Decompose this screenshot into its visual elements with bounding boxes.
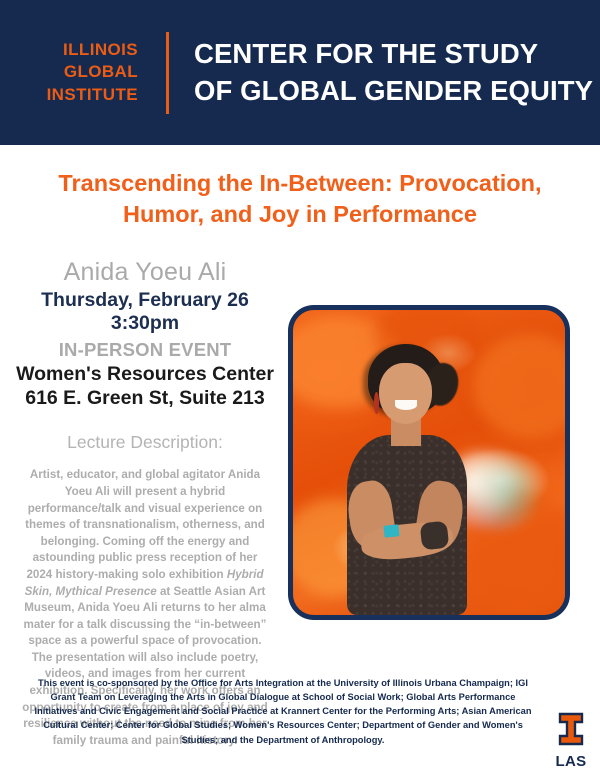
- subject-wrist-cuff: [419, 521, 449, 551]
- header-divider-rule: [166, 32, 169, 114]
- subject-smile: [395, 400, 417, 410]
- talk-title-line-2: Humor, and Joy in Performance: [18, 199, 582, 230]
- las-wordmark: LAS: [551, 754, 591, 769]
- subject-face: [379, 363, 432, 424]
- las-logo: LAS: [551, 712, 591, 769]
- speaker-portrait: [288, 305, 570, 620]
- page-title: Transcending the In-Between: Provocation…: [0, 168, 600, 231]
- venue-name: Women's Resources Center: [0, 363, 290, 387]
- speaker-name: Anida Yoeu Ali: [0, 258, 290, 286]
- igi-line-1: ILLINOIS: [28, 39, 138, 61]
- illinois-block-i-icon: [557, 712, 585, 746]
- center-name-line-2: OF GLOBAL GENDER EQUITY: [194, 73, 593, 109]
- subject-turquoise-ring: [384, 524, 400, 538]
- lecture-body-part-1: Artist, educator, and global agitator An…: [25, 468, 265, 580]
- event-date: Thursday, February 26: [0, 289, 290, 312]
- center-name: CENTER FOR THE STUDY OF GLOBAL GENDER EQ…: [194, 36, 593, 109]
- sponsor-credit: This event is co-sponsored by the Office…: [34, 676, 532, 747]
- venue-address: 616 E. Green St, Suite 213: [0, 387, 290, 411]
- portrait-subject: [293, 310, 565, 615]
- lecture-description-heading: Lecture Description:: [0, 432, 290, 453]
- center-name-line-1: CENTER FOR THE STUDY: [194, 36, 593, 72]
- illinois-global-institute-lockup: ILLINOIS GLOBAL INSTITUTE: [28, 39, 138, 106]
- igi-line-3: INSTITUTE: [28, 84, 138, 106]
- event-time: 3:30pm: [0, 312, 290, 335]
- event-mode-badge: IN-PERSON EVENT: [0, 338, 290, 361]
- poster-header: ILLINOIS GLOBAL INSTITUTE CENTER FOR THE…: [0, 0, 600, 145]
- igi-line-2: GLOBAL: [28, 61, 138, 83]
- talk-title-line-1: Transcending the In-Between: Provocation…: [18, 168, 582, 199]
